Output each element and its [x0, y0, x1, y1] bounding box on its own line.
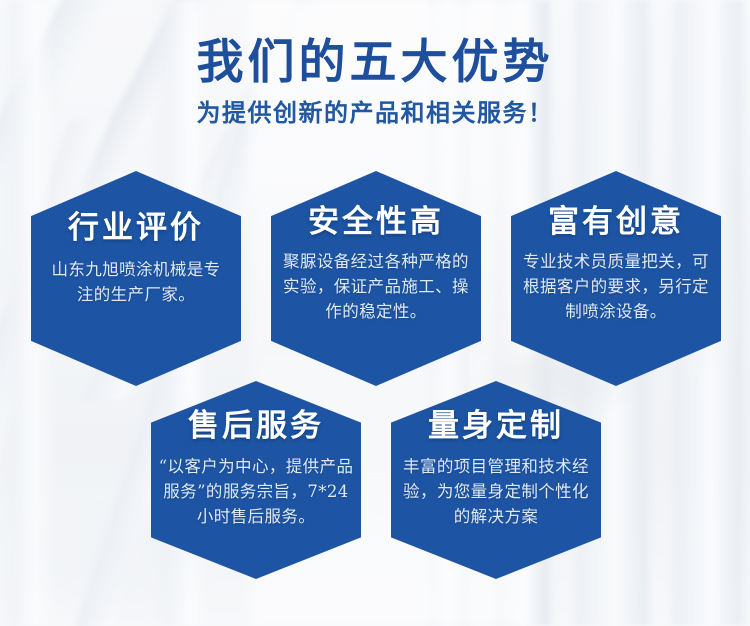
advantage-title: 售后服务	[188, 411, 324, 442]
advantage-hexagon-high-safety[interactable]: 安全性高 聚脲设备经过各种严格的实验，保证产品施工、操作的稳定性。	[271, 171, 481, 386]
advantage-hexagon-creative[interactable]: 富有创意 专业技术员质量把关，可根据客户的要求，另行定制喷涂设备。	[511, 171, 721, 386]
advantage-body: “以客户为中心，提供产品服务”的服务宗旨，7*24小时售后服务。	[151, 454, 361, 529]
advantage-title: 富有创意	[548, 207, 684, 238]
advantage-title: 安全性高	[308, 207, 444, 238]
page-title: 我们的五大优势	[0, 34, 750, 91]
advantage-title: 量身定制	[428, 411, 564, 442]
advantage-body: 专业技术员质量把关，可根据客户的要求，另行定制喷涂设备。	[511, 249, 721, 324]
advantage-body: 丰富的项目管理和技术经验，为您量身定制个性化的解决方案	[391, 454, 601, 529]
advantage-body: 聚脲设备经过各种严格的实验，保证产品施工、操作的稳定性。	[271, 249, 481, 324]
advantage-body: 山东九旭喷涂机械是专注的生产厂家。	[31, 257, 241, 307]
page-subtitle: 为提供创新的产品和相关服务！	[0, 99, 750, 128]
advantage-hexagon-industry-reputation[interactable]: 行业评价 山东九旭喷涂机械是专注的生产厂家。	[31, 171, 241, 386]
promo-banner: 我们的五大优势 为提供创新的产品和相关服务！ 行业评价 山东九旭喷涂机械是专注的…	[0, 0, 750, 626]
heading-block: 我们的五大优势 为提供创新的产品和相关服务！	[0, 34, 750, 128]
advantage-hexagon-tailor-made[interactable]: 量身定制 丰富的项目管理和技术经验，为您量身定制个性化的解决方案	[391, 381, 601, 579]
advantage-hexagon-after-sales-service[interactable]: 售后服务 “以客户为中心，提供产品服务”的服务宗旨，7*24小时售后服务。	[151, 381, 361, 579]
advantage-title: 行业评价	[68, 213, 204, 244]
